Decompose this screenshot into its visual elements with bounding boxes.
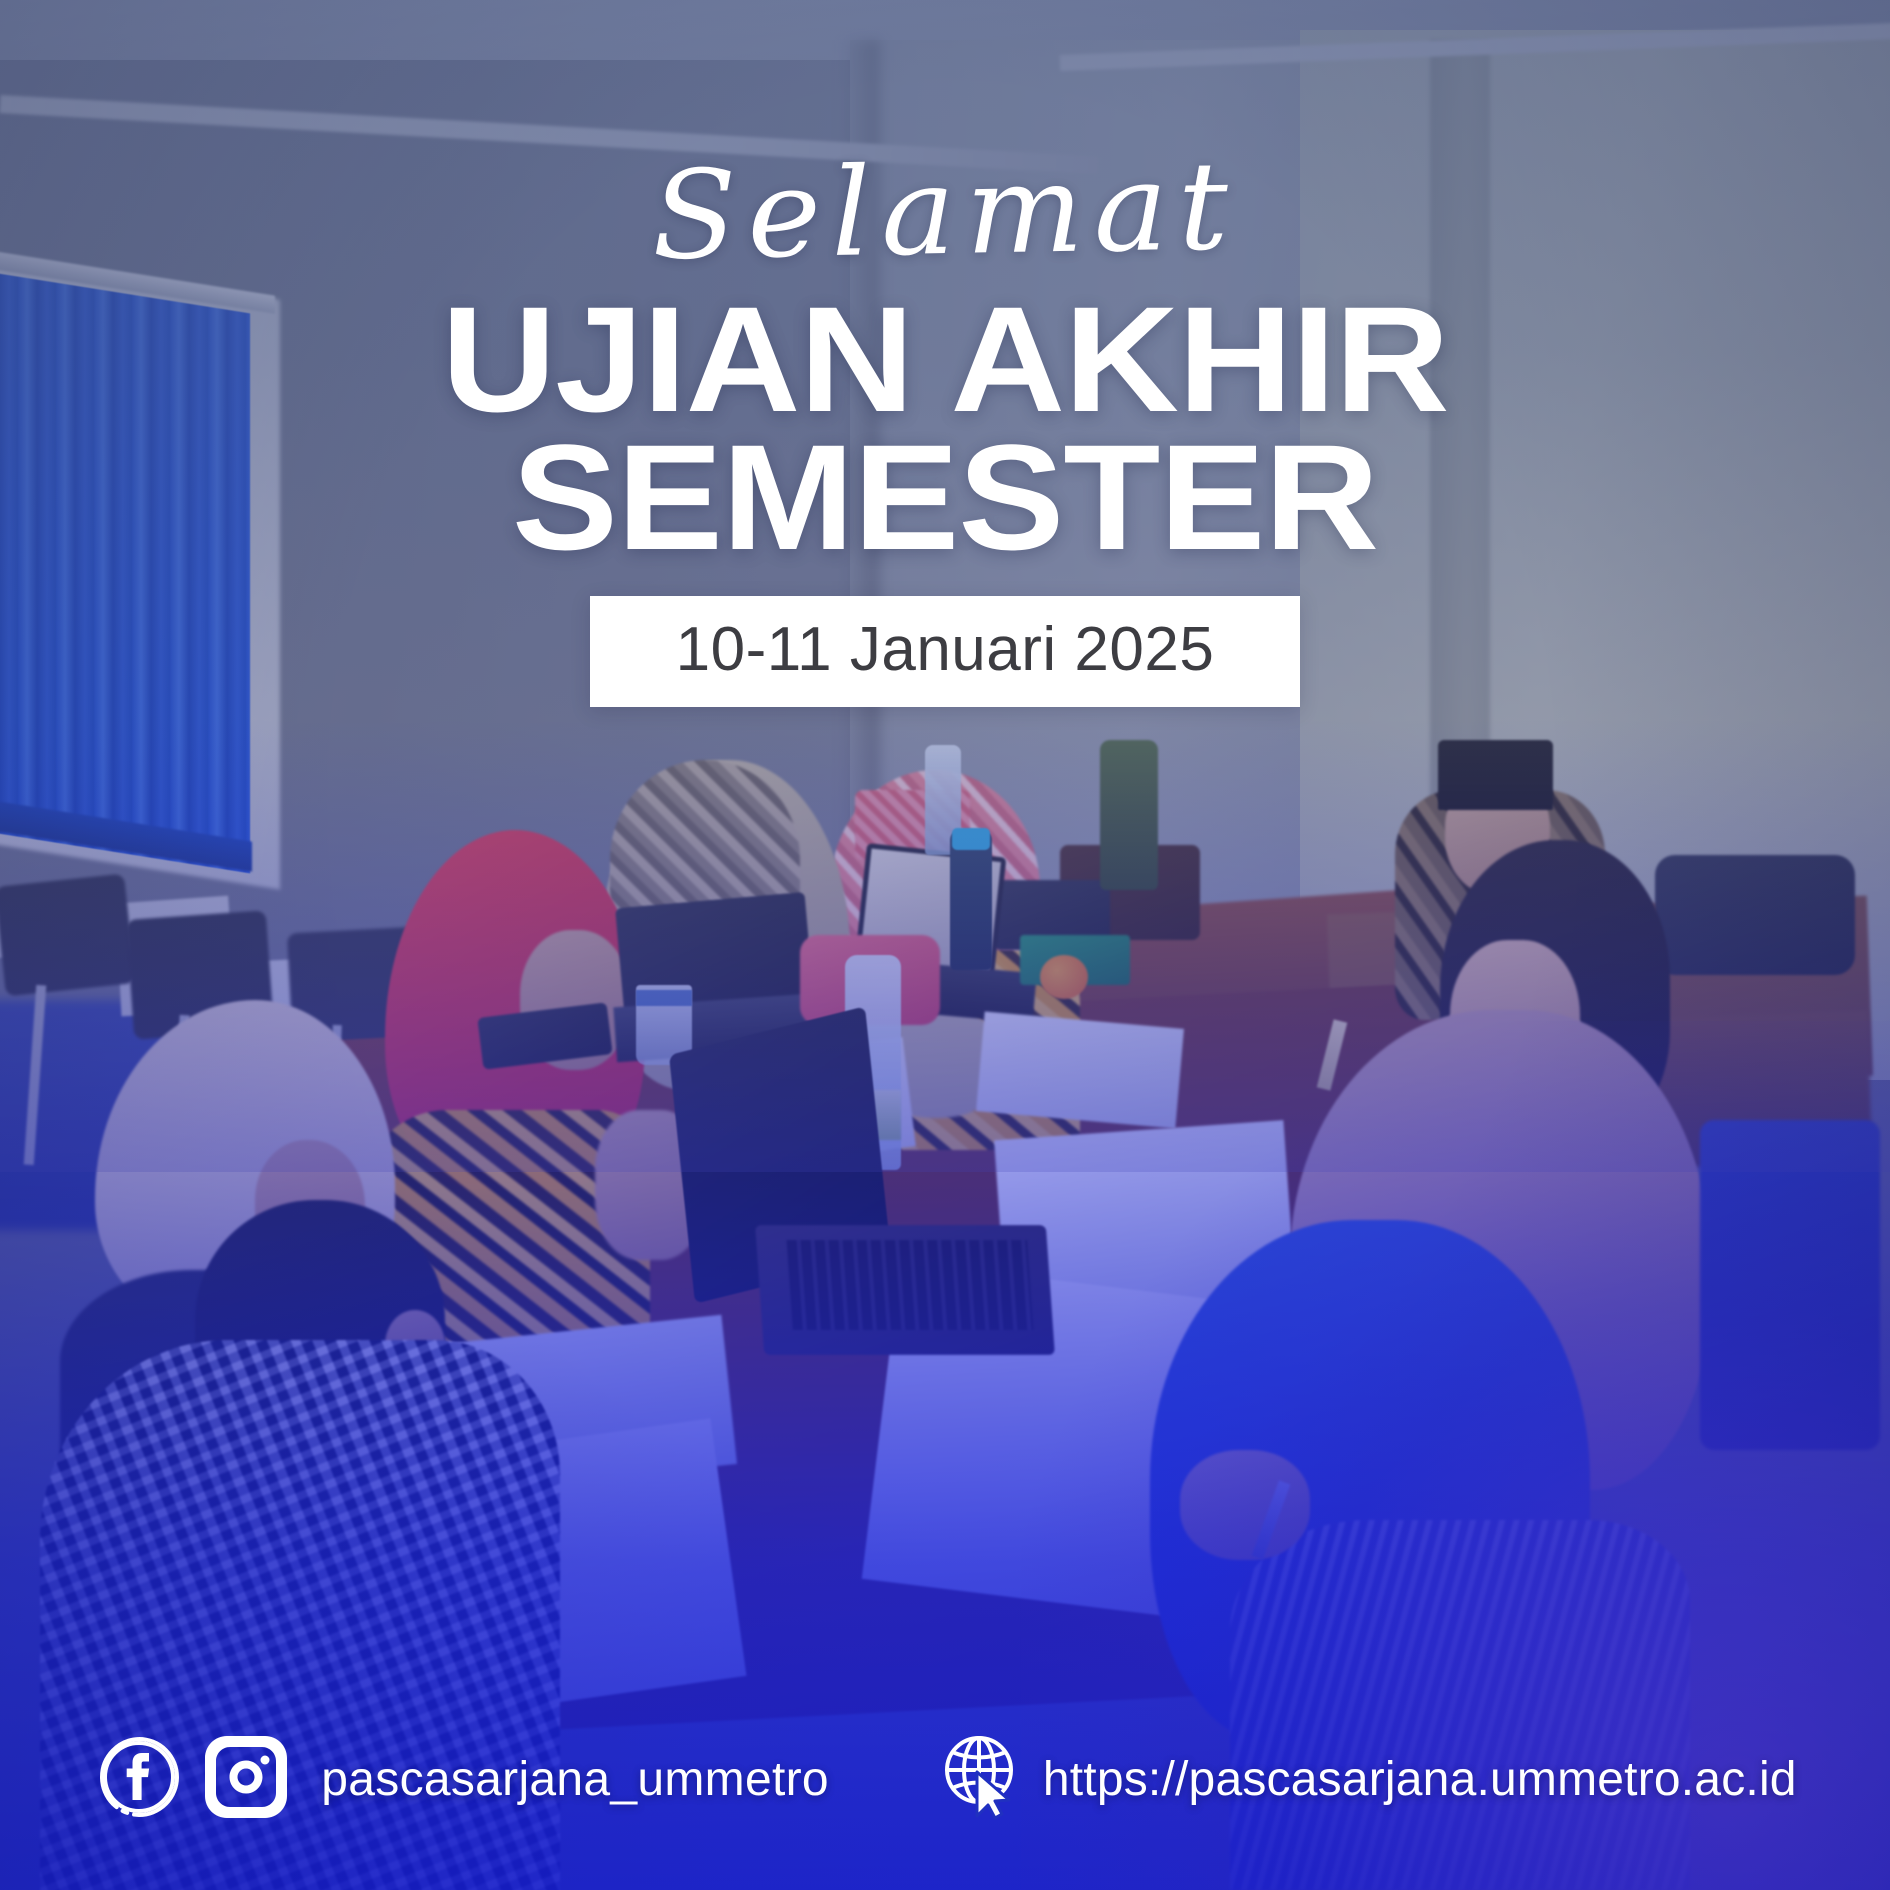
website-group: https://pascasarjana.ummetro.ac.id [939,1732,1797,1827]
greeting-script-text: Selamat [0,134,1890,289]
facebook-icon[interactable] [93,1731,185,1828]
date-badge-wrap: 10-11 Januari 2025 [0,566,1890,707]
website-url-text: https://pascasarjana.ummetro.ac.id [1043,1752,1797,1807]
page-title: UJIAN AKHIR SEMESTER [0,290,1890,566]
social-handle-text: pascasarjana_ummetro [321,1752,829,1807]
poster-canvas: Selamat UJIAN AKHIR SEMESTER 10-11 Janua… [0,0,1890,1890]
date-badge: 10-11 Januari 2025 [590,596,1301,707]
title-line-2: SEMESTER [0,428,1890,566]
headline-block: Selamat UJIAN AKHIR SEMESTER 10-11 Janua… [0,150,1890,707]
social-group: pascasarjana_ummetro [93,1731,829,1828]
globe-cursor-icon[interactable] [939,1732,1029,1827]
footer-bar: pascasarjana_ummetro https://pasc [0,1731,1890,1828]
instagram-icon[interactable] [203,1734,289,1825]
